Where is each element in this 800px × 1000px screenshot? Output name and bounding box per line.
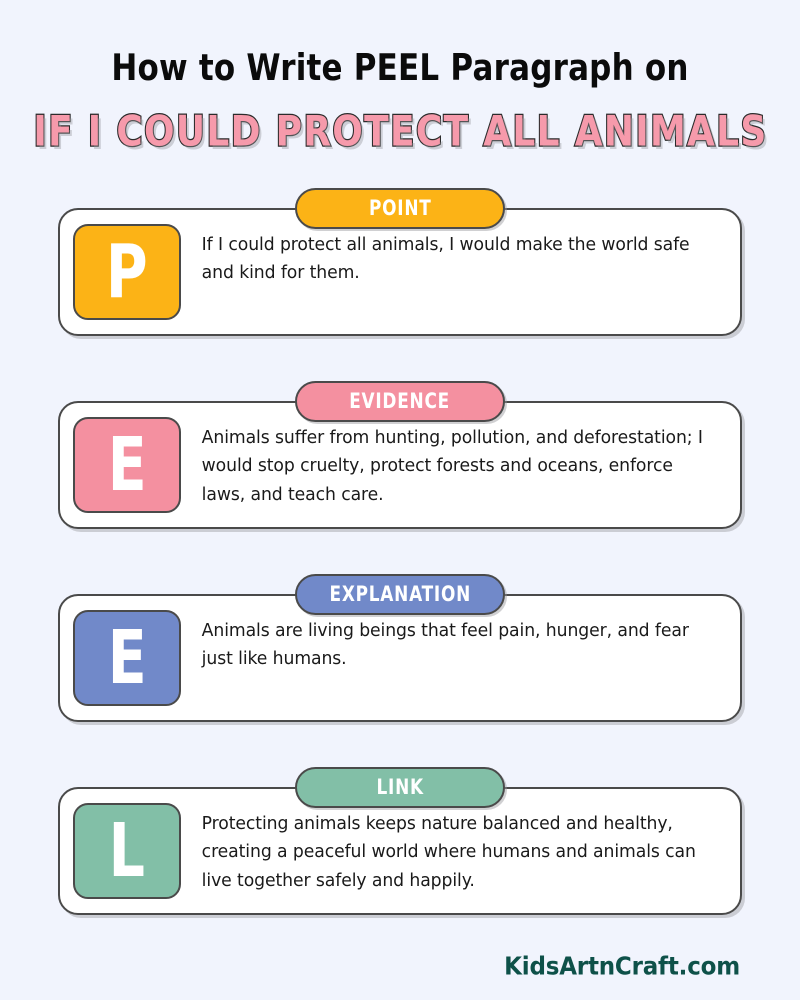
page-title: How to Write PEEL Paragraph on	[0, 48, 800, 88]
letter-tile-explanation: E	[73, 610, 181, 706]
card-text-explanation: Animals are living beings that feel pain…	[181, 610, 714, 674]
letter-tile-point: P	[73, 224, 181, 320]
peel-card-explanation: EXPLANATION E Animals are living beings …	[58, 574, 742, 722]
page-subtitle-wrapper: IF I COULD PROTECT ALL ANIMALS	[0, 104, 800, 158]
badge-explanation-label: EXPLANATION	[329, 582, 470, 606]
card-text-point: If I could protect all animals, I would …	[181, 224, 714, 288]
badge-evidence: EVIDENCE	[295, 381, 505, 422]
page-subtitle: IF I COULD PROTECT ALL ANIMALS	[33, 107, 767, 156]
card-text-link: Protecting animals keeps nature balanced…	[181, 803, 714, 895]
badge-point: POINT	[295, 188, 505, 229]
peel-card-link: LINK L Protecting animals keeps nature b…	[58, 767, 742, 915]
letter-tile-explanation-letter: E	[108, 621, 147, 695]
card-text-evidence: Animals suffer from hunting, pollution, …	[181, 417, 714, 509]
badge-link: LINK	[295, 767, 505, 808]
letter-tile-point-letter: P	[106, 235, 148, 309]
letter-tile-evidence: E	[73, 417, 181, 513]
badge-link-label: LINK	[376, 775, 423, 799]
poster-header: How to Write PEEL Paragraph on IF I COUL…	[0, 0, 800, 158]
brand-watermark: KidsArtnCraft.com	[504, 953, 740, 981]
badge-explanation: EXPLANATION	[295, 574, 505, 615]
peel-card-point: POINT P If I could protect all animals, …	[58, 188, 742, 336]
letter-tile-link: L	[73, 803, 181, 899]
badge-point-label: POINT	[369, 196, 432, 220]
letter-tile-link-letter: L	[109, 814, 145, 888]
peel-card-evidence: EVIDENCE E Animals suffer from hunting, …	[58, 381, 742, 529]
badge-evidence-label: EVIDENCE	[350, 389, 451, 413]
peel-card-list: POINT P If I could protect all animals, …	[0, 188, 800, 915]
poster-page: How to Write PEEL Paragraph on IF I COUL…	[0, 0, 800, 1000]
letter-tile-evidence-letter: E	[108, 428, 147, 502]
